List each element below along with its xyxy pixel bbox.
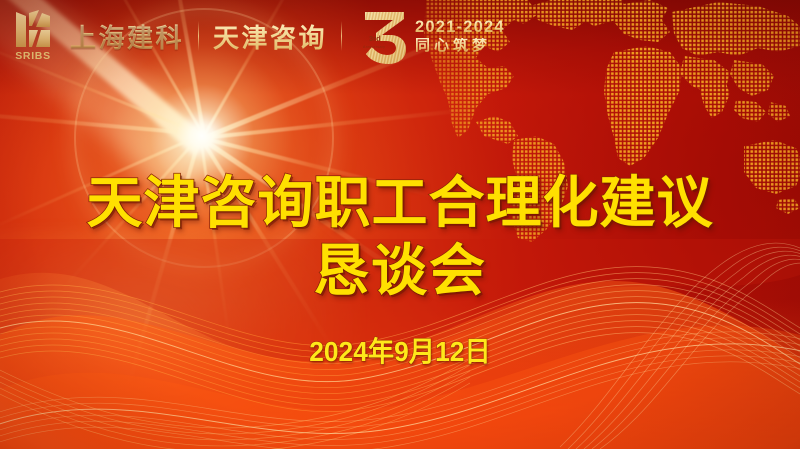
- anniversary-slogan-label: 同心筑梦: [415, 38, 505, 53]
- sribs-k-monogram-icon: [12, 9, 54, 49]
- vertical-divider-icon: [198, 21, 199, 51]
- anniversary-numeral-icon: 3rd Anniversary: [360, 8, 408, 64]
- anniversary-badge: 3rd Anniversary 2021-2024 同心筑梦: [360, 8, 505, 64]
- event-poster: SRIBS 上海建科 天津咨询: [0, 0, 800, 449]
- anniversary-years-label: 2021-2024: [415, 19, 505, 36]
- anniversary-text-block: 2021-2024 同心筑梦: [415, 19, 505, 54]
- svg-text:3rd: 3rd: [369, 34, 381, 43]
- sribs-logo-text: SRIBS: [15, 51, 51, 62]
- sribs-logo: SRIBS: [10, 9, 56, 63]
- brand-primary-label: 上海建科: [70, 18, 184, 55]
- poster-header: SRIBS 上海建科 天津咨询: [0, 0, 800, 72]
- brand-secondary-label: 天津咨询: [213, 18, 327, 55]
- flowing-wave-lines-icon: [0, 239, 800, 449]
- vertical-divider-icon: [341, 21, 342, 51]
- svg-text:Anniversary: Anniversary: [363, 45, 385, 49]
